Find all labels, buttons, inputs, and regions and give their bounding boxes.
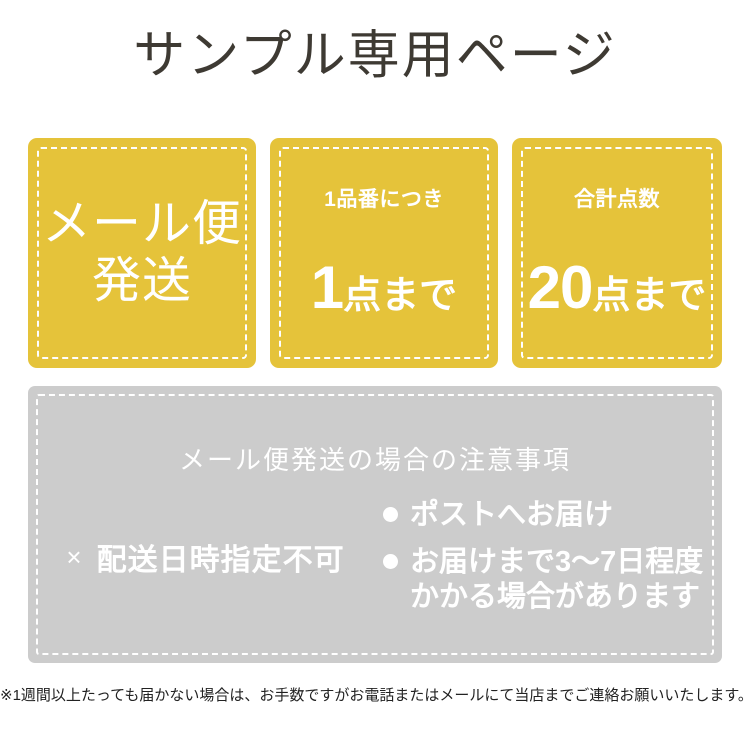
total-unit: 点まで <box>592 275 706 317</box>
bullet-line-2: かかる場合があります <box>410 580 703 615</box>
notice-body: ×配送日時指定不可 ポストへお届け お届けまで3〜7日程度 かかる場合があります <box>28 492 722 642</box>
per-item-unit: 点まで <box>343 275 457 317</box>
notice-panel: メール便発送の場合の注意事項 ×配送日時指定不可 ポストへお届け お届けまで3〜… <box>28 386 722 663</box>
per-item-number: 1 <box>311 254 343 321</box>
total-caption: 合計点数 <box>512 189 722 210</box>
bullet-text: ポストへお届け <box>410 498 613 533</box>
feature-box-mail-shipping-content: メール便 発送 <box>28 196 256 311</box>
bullet-line-1: お届けまで3〜7日程度 <box>410 546 703 578</box>
feature-box-total-limit: 合計点数 20点まで <box>512 138 722 368</box>
bullet-line-1: ポストへお届け <box>410 499 613 531</box>
total-number: 20 <box>528 254 593 321</box>
mail-shipping-line-1: メール便 <box>28 196 256 253</box>
feature-box-per-item-limit-content: 1品番につき 1点まで <box>270 189 498 318</box>
footer-note: ※1週間以上たっても届かない場合は、お手数ですがお電話またはメールにて当店までご… <box>0 684 750 705</box>
list-item: ポストへお届け <box>383 498 722 533</box>
total-value: 20点まで <box>512 258 722 318</box>
mail-shipping-line-2: 発送 <box>28 253 256 310</box>
bullet-dot-icon <box>383 554 398 569</box>
notice-heading: メール便発送の場合の注意事項 <box>28 440 722 477</box>
mail-shipping-banner: { "title": "サンプル専用ページ", "colors": { "acc… <box>0 0 750 750</box>
notice-bullet-list: ポストへお届け お届けまで3〜7日程度 かかる場合があります <box>383 492 722 626</box>
feature-box-mail-shipping: メール便 発送 <box>28 138 256 368</box>
feature-box-total-limit-content: 合計点数 20点まで <box>512 189 722 318</box>
bullet-dot-icon <box>383 507 398 522</box>
page-title: サンプル専用ページ <box>0 28 750 85</box>
bullet-text: お届けまで3〜7日程度 かかる場合があります <box>410 545 703 615</box>
per-item-caption: 1品番につき <box>270 189 498 210</box>
per-item-value: 1点まで <box>270 258 498 318</box>
delivery-date-restriction-label: 配送日時指定不可 <box>97 535 345 579</box>
feature-box-row: メール便 発送 1品番につき 1点まで 合計点数 20点まで <box>28 138 722 368</box>
feature-box-per-item-limit: 1品番につき 1点まで <box>270 138 498 368</box>
delivery-date-restriction: ×配送日時指定不可 <box>28 492 383 622</box>
cross-mark-icon: × <box>66 542 82 573</box>
list-item: お届けまで3〜7日程度 かかる場合があります <box>383 545 722 615</box>
